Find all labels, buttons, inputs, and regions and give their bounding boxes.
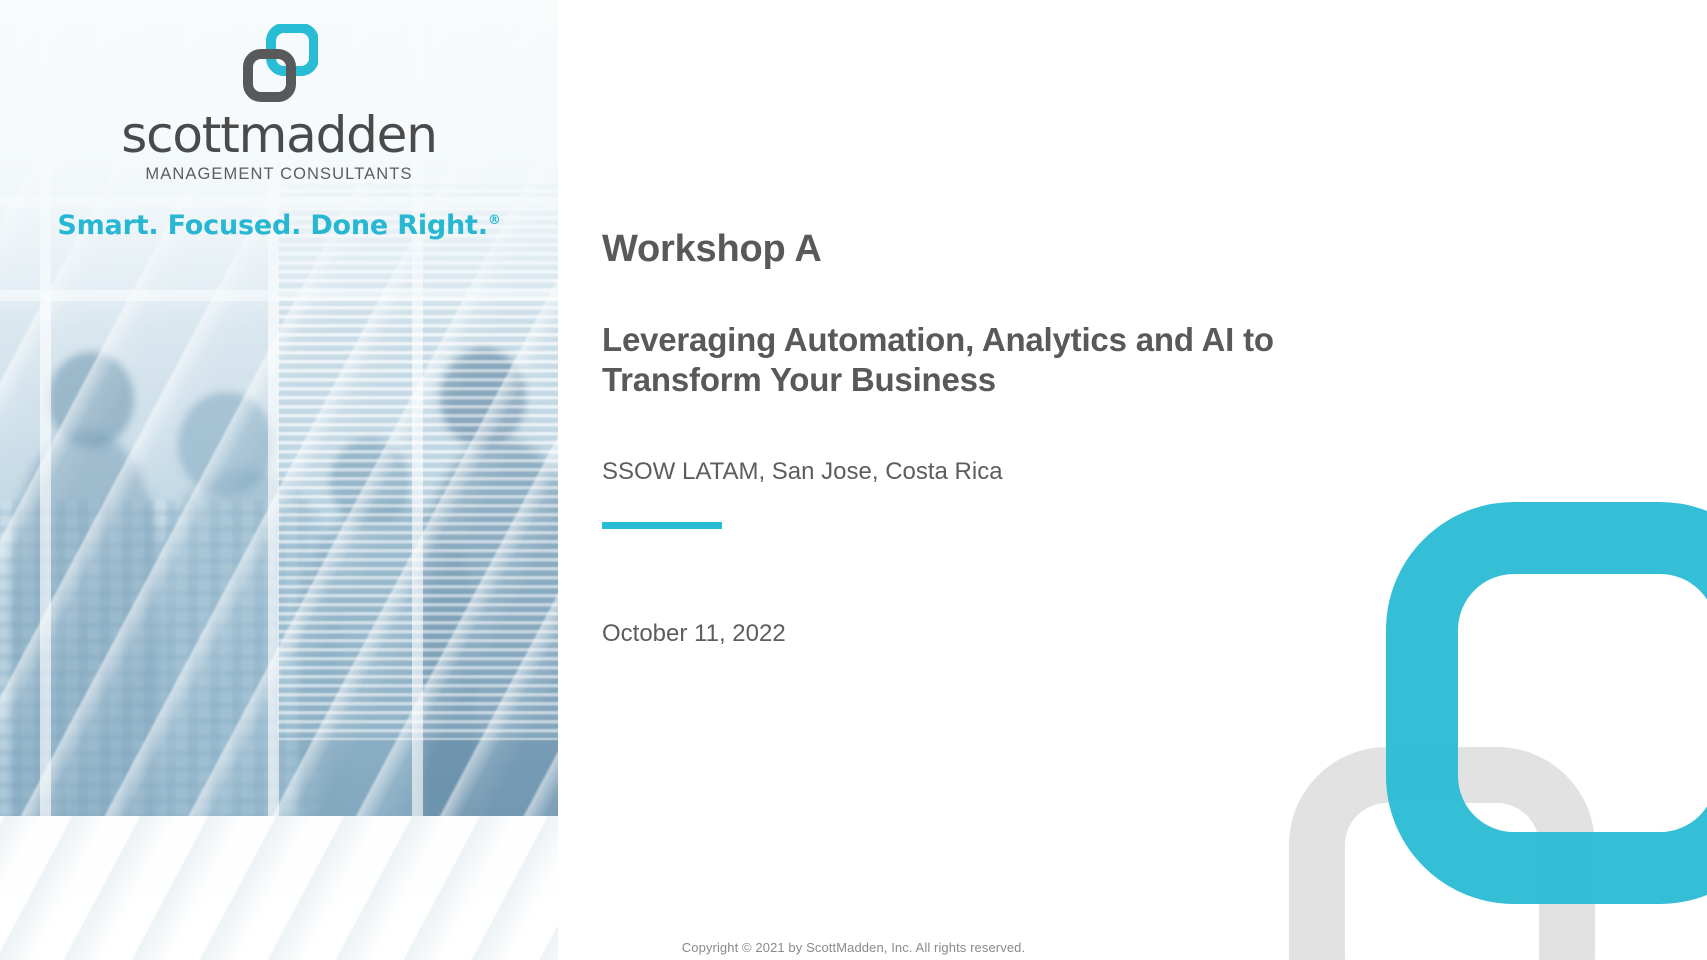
left-photo-panel: scottmadden MANAGEMENT CONSULTANTS Smart…	[0, 0, 558, 960]
accent-rule-divider	[602, 522, 722, 529]
registered-trademark-icon: ®	[488, 213, 501, 228]
brand-tagline: Smart. Focused. Done Right.®	[0, 210, 558, 241]
brand-wordmark: scottmadden	[0, 110, 558, 160]
copyright-notice: Copyright © 2021 by ScottMadden, Inc. Al…	[0, 940, 1707, 955]
session-subtitle: Leveraging Automation, Analytics and AI …	[602, 320, 1432, 401]
scottmadden-logo-icon	[240, 24, 318, 104]
brand-descriptor: MANAGEMENT CONSULTANTS	[0, 165, 558, 184]
title-slide: scottmadden MANAGEMENT CONSULTANTS Smart…	[0, 0, 1707, 960]
brand-logo-lockup: scottmadden MANAGEMENT CONSULTANTS Smart…	[0, 24, 558, 241]
brand-tagline-text: Smart. Focused. Done Right.	[57, 210, 487, 241]
slide-content: Workshop A Leveraging Automation, Analyt…	[602, 0, 1502, 960]
event-date: October 11, 2022	[602, 620, 786, 648]
page-title: Workshop A	[602, 228, 822, 272]
event-location: SSOW LATAM, San Jose, Costa Rica	[602, 458, 1003, 486]
